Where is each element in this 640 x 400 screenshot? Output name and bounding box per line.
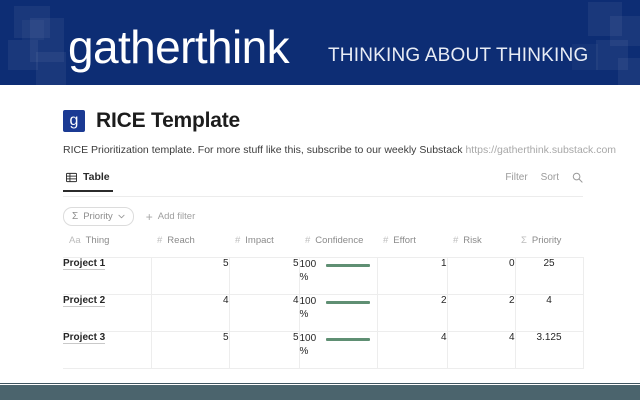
column-type-icon: Aa xyxy=(69,235,81,247)
site-banner: gatherthink THINKING ABOUT THINKING xyxy=(0,0,640,85)
banner-decor-square xyxy=(36,52,66,85)
plus-icon: + xyxy=(146,211,153,223)
banner-decor-square xyxy=(8,40,38,70)
column-header-risk[interactable]: # Risk xyxy=(447,235,515,258)
row-title-link[interactable]: Project 2 xyxy=(63,295,105,307)
cell-confidence[interactable]: 100% xyxy=(299,332,377,369)
cell-impact[interactable]: 5 xyxy=(229,258,299,295)
banner-decor-square xyxy=(618,58,640,85)
footer-bar xyxy=(0,385,640,400)
column-label: Risk xyxy=(463,235,481,247)
cell-reach[interactable]: 5 xyxy=(151,258,229,295)
column-header-impact[interactable]: # Impact xyxy=(229,235,299,258)
confidence-progress-fill xyxy=(326,338,370,341)
column-header-confidence[interactable]: # Confidence xyxy=(299,235,377,258)
view-tabs: Table xyxy=(63,171,113,191)
filter-chip-label: Priority xyxy=(83,208,113,225)
column-type-icon: Σ xyxy=(521,235,527,247)
tab-table-label: Table xyxy=(83,171,110,184)
app-root: gatherthink THINKING ABOUT THINKING g RI… xyxy=(0,0,640,400)
confidence-progress-track xyxy=(326,264,370,267)
confidence-value: 100 xyxy=(300,296,317,307)
column-type-icon: # xyxy=(383,235,388,247)
confidence-value: 100 xyxy=(300,333,317,344)
cell-priority[interactable]: 3.125 xyxy=(515,332,583,369)
chevron-down-icon xyxy=(118,208,125,225)
cell-confidence[interactable]: 100% xyxy=(299,258,377,295)
page-title: RICE Template xyxy=(96,109,240,133)
filter-bar: Σ Priority + Add filter xyxy=(63,207,583,226)
table-row[interactable]: Project 2 4 4 100% 2 2 xyxy=(63,295,583,332)
column-header-effort[interactable]: # Effort xyxy=(377,235,447,258)
cell-effort[interactable]: 2 xyxy=(377,295,447,332)
footer-rule xyxy=(0,383,640,384)
rice-table: Aa Thing # Reach # xyxy=(63,235,584,369)
column-type-icon: # xyxy=(305,235,310,247)
brand-wordmark: gatherthink xyxy=(68,22,289,72)
add-filter-label: Add filter xyxy=(158,211,196,222)
cell-risk[interactable]: 4 xyxy=(447,332,515,369)
cell-thing[interactable]: Project 3 xyxy=(63,332,151,369)
table-row[interactable]: Project 3 5 5 100% 4 4 xyxy=(63,332,583,369)
banner-decor-square xyxy=(22,20,44,40)
confidence-unit: % xyxy=(300,346,309,357)
column-label: Thing xyxy=(86,235,110,247)
filter-action[interactable]: Filter xyxy=(505,171,527,184)
content-column: g RICE Template RICE Prioritization temp… xyxy=(63,85,583,369)
sort-action[interactable]: Sort xyxy=(541,171,559,184)
column-type-icon: # xyxy=(453,235,458,247)
cell-thing[interactable]: Project 2 xyxy=(63,295,151,332)
column-type-icon: # xyxy=(157,235,162,247)
cell-impact[interactable]: 5 xyxy=(229,332,299,369)
cell-reach[interactable]: 4 xyxy=(151,295,229,332)
confidence-value: 100 xyxy=(300,259,317,270)
cell-effort[interactable]: 4 xyxy=(377,332,447,369)
column-label: Confidence xyxy=(315,235,363,247)
page-icon: g xyxy=(63,110,85,132)
sigma-icon: Σ xyxy=(72,208,78,225)
confidence-unit: % xyxy=(300,272,309,283)
column-label: Priority xyxy=(532,235,562,247)
confidence-progress-track xyxy=(326,338,370,341)
brand-tagline: THINKING ABOUT THINKING xyxy=(328,45,588,67)
table-body: Project 1 5 5 100% 1 0 xyxy=(63,258,583,369)
page-description: RICE Prioritization template. For more s… xyxy=(63,143,583,157)
column-header-reach[interactable]: # Reach xyxy=(151,235,229,258)
confidence-progress-fill xyxy=(326,264,370,267)
column-label: Reach xyxy=(167,235,194,247)
substack-link[interactable]: https://gatherthink.substack.com xyxy=(465,144,616,156)
cell-thing[interactable]: Project 1 xyxy=(63,258,151,295)
tab-table[interactable]: Table xyxy=(63,171,113,192)
title-row: g RICE Template xyxy=(63,109,583,133)
table-header-row: Aa Thing # Reach # xyxy=(63,235,583,258)
column-type-icon: # xyxy=(235,235,240,247)
tab-actions: Filter Sort xyxy=(505,171,583,190)
table-grid-icon xyxy=(66,172,77,183)
column-label: Impact xyxy=(245,235,274,247)
cell-priority[interactable]: 25 xyxy=(515,258,583,295)
cell-effort[interactable]: 1 xyxy=(377,258,447,295)
column-header-thing[interactable]: Aa Thing xyxy=(63,235,151,258)
confidence-progress-track xyxy=(326,301,370,304)
confidence-progress-fill xyxy=(326,301,370,304)
page-description-text: RICE Prioritization template. For more s… xyxy=(63,144,465,156)
cell-priority[interactable]: 4 xyxy=(515,295,583,332)
column-header-priority[interactable]: Σ Priority xyxy=(515,235,583,258)
table-row[interactable]: Project 1 5 5 100% 1 0 xyxy=(63,258,583,295)
row-title-link[interactable]: Project 1 xyxy=(63,258,105,270)
cell-risk[interactable]: 0 xyxy=(447,258,515,295)
add-filter-button[interactable]: + Add filter xyxy=(146,211,196,223)
page-body: g RICE Template RICE Prioritization temp… xyxy=(0,85,640,384)
cell-confidence[interactable]: 100% xyxy=(299,295,377,332)
confidence-unit: % xyxy=(300,309,309,320)
filter-chip-priority[interactable]: Σ Priority xyxy=(63,207,134,226)
table-header: Aa Thing # Reach # xyxy=(63,235,583,258)
cell-risk[interactable]: 2 xyxy=(447,295,515,332)
view-tabbar: Table Filter Sort xyxy=(63,171,583,197)
cell-impact[interactable]: 4 xyxy=(229,295,299,332)
cell-reach[interactable]: 5 xyxy=(151,332,229,369)
row-title-link[interactable]: Project 3 xyxy=(63,332,105,344)
column-label: Effort xyxy=(393,235,416,247)
search-icon[interactable] xyxy=(572,172,583,183)
